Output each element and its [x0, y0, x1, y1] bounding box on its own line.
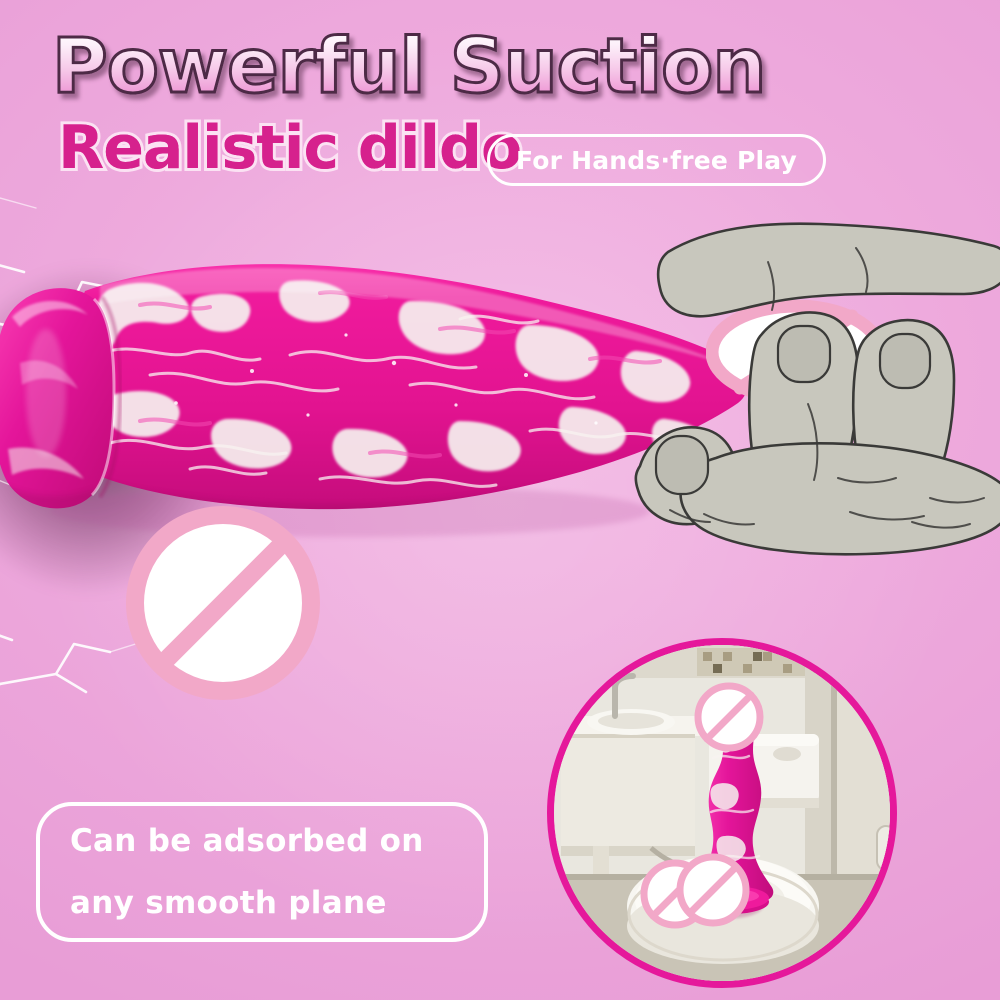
no-sign-censor-icon: [672, 849, 754, 931]
advertisement-banner: Powerful Suction Realistic dildo Realist…: [0, 0, 1000, 1000]
feature-caption-line-2: any smooth plane: [70, 872, 484, 934]
no-sign-censor-icon: [690, 678, 768, 756]
hand-grip-illustration: [612, 222, 1000, 562]
hands-free-badge: For Hands·free Play: [487, 134, 826, 186]
feature-caption-line-1: Can be adsorbed on: [70, 810, 484, 872]
page-title: Powerful Suction: [52, 28, 765, 104]
feature-caption-box: Can be adsorbed on any smooth plane: [36, 802, 488, 942]
hands-free-badge-label: For Hands·free Play: [516, 146, 797, 175]
no-sign-censor-icon: [113, 505, 333, 701]
page-subtitle: Realistic dildo: [58, 118, 521, 178]
